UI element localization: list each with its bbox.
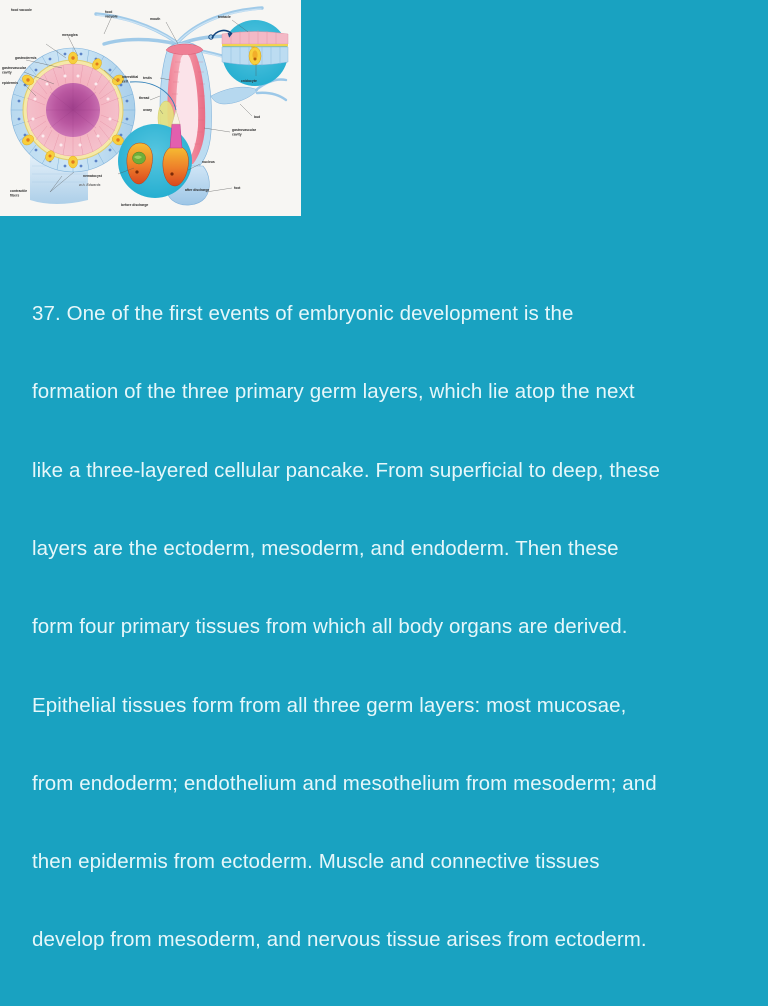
- label-ovary: ovary: [143, 108, 152, 112]
- svg-text:cell: cell: [122, 80, 128, 84]
- svg-text:interstitial: interstitial: [122, 75, 138, 79]
- hydra-anatomy-figure: food vacuole food vacuole mesoglea gastr…: [0, 0, 301, 216]
- svg-text:gastrovascular: gastrovascular: [232, 128, 257, 132]
- svg-text:contractile: contractile: [10, 189, 27, 193]
- label-foot: foot: [234, 186, 241, 190]
- body-line-6: Epithelial tissues form from all three g…: [32, 693, 738, 719]
- slide-canvas: food vacuole food vacuole mesoglea gastr…: [0, 0, 768, 561]
- svg-text:w.h. Edwards: w.h. Edwards: [79, 183, 101, 187]
- body-line-5: form four primary tissues from which all…: [32, 614, 738, 640]
- label-mesoglea: mesoglea: [62, 33, 78, 37]
- label-nematocyst: nematocyst: [83, 174, 103, 178]
- hydra-anatomy-illustration: food vacuole food vacuole mesoglea gastr…: [0, 0, 301, 216]
- label-thread: thread: [139, 96, 149, 100]
- body-line-2: formation of the three primary germ laye…: [32, 379, 738, 405]
- body-line-4: layers are the ectoderm, mesoderm, and e…: [32, 536, 738, 562]
- label-nucleus: nucleus: [202, 160, 215, 164]
- label-cnidocyte: cnidocyte: [241, 79, 257, 83]
- body-line-7: from endoderm; endothelium and mesotheli…: [32, 771, 738, 797]
- label-after-discharge: after discharge: [185, 188, 209, 192]
- body-line-1: 37. One of the first events of embryonic…: [32, 301, 738, 327]
- label-mouth: mouth: [150, 17, 160, 21]
- label-before-discharge: before discharge: [121, 203, 148, 207]
- label-bud: bud: [254, 115, 260, 119]
- label-tentacle: tentacle: [218, 15, 231, 19]
- svg-text:food: food: [105, 10, 112, 14]
- slide-body-text: 37. One of the first events of embryonic…: [32, 249, 738, 1006]
- label-food-vacuole: food vacuole: [11, 8, 32, 12]
- body-line-9: develop from mesoderm, and nervous tissu…: [32, 927, 738, 953]
- label-gastrodermis: gastrodermis: [15, 56, 37, 60]
- label-testis: testis: [143, 76, 152, 80]
- body-line-8: then epidermis from ectoderm. Muscle and…: [32, 849, 738, 875]
- svg-text:cavity: cavity: [232, 133, 242, 137]
- label-epidermis: epidermis: [2, 81, 18, 85]
- svg-text:fibers: fibers: [10, 194, 19, 198]
- cross-section-ring: [11, 48, 135, 172]
- svg-text:cavity: cavity: [2, 71, 12, 75]
- svg-text:gastrovascular: gastrovascular: [2, 66, 27, 70]
- body-line-3: like a three-layered cellular pancake. F…: [32, 458, 738, 484]
- svg-text:vacuole: vacuole: [105, 15, 118, 19]
